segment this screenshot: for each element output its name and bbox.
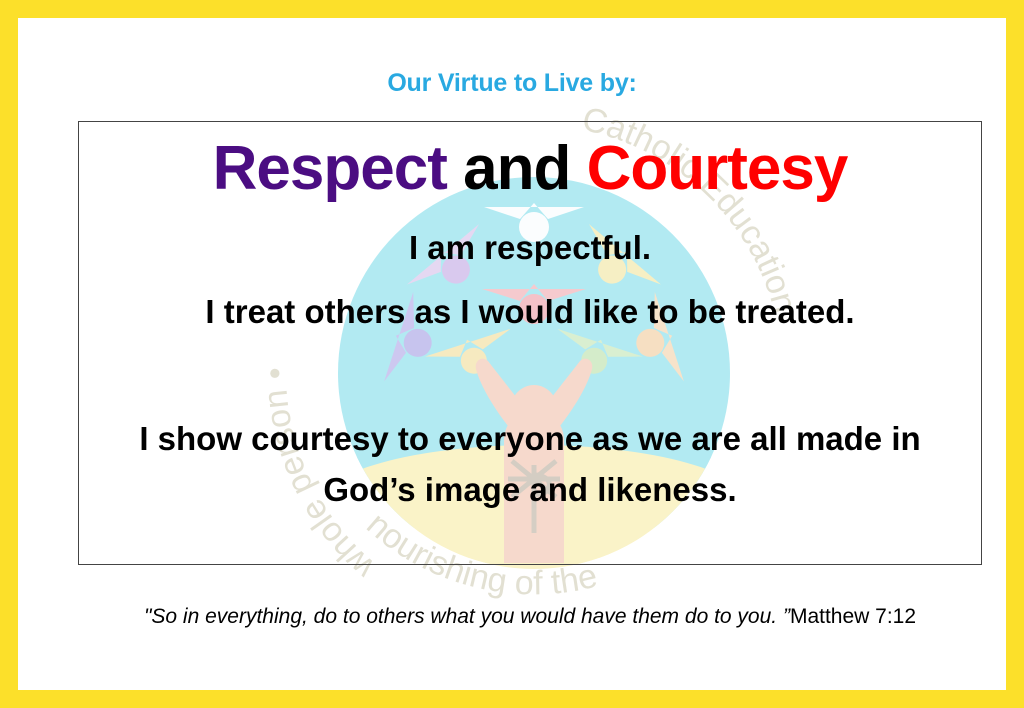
heading-word-courtesy: Courtesy: [587, 134, 848, 203]
virtue-name-heading: Respect and Courtesy: [79, 122, 981, 201]
virtue-statement-2: I treat others as I would like to be tre…: [79, 293, 981, 331]
virtue-content-box: Respect and Courtesy I am respectful. I …: [78, 121, 982, 565]
scripture-quote: "So in everything, do to others what you…: [104, 601, 956, 632]
virtue-statement-1: I am respectful.: [79, 229, 981, 267]
virtue-statement-3: I show courtesy to everyone as we are al…: [79, 413, 981, 515]
page-title: Our Virtue to Live by:: [18, 69, 1006, 98]
virtue-statement-list: I am respectful. I treat others as I wou…: [79, 229, 981, 515]
virtue-poster-slide: Catholic Education whole person • nouris…: [0, 0, 1024, 708]
scripture-reference: Matthew 7:12: [790, 605, 916, 628]
heading-word-respect: Respect: [213, 134, 447, 203]
scripture-quote-text: "So in everything, do to others what you…: [144, 605, 790, 628]
heading-word-and: and: [463, 134, 570, 203]
